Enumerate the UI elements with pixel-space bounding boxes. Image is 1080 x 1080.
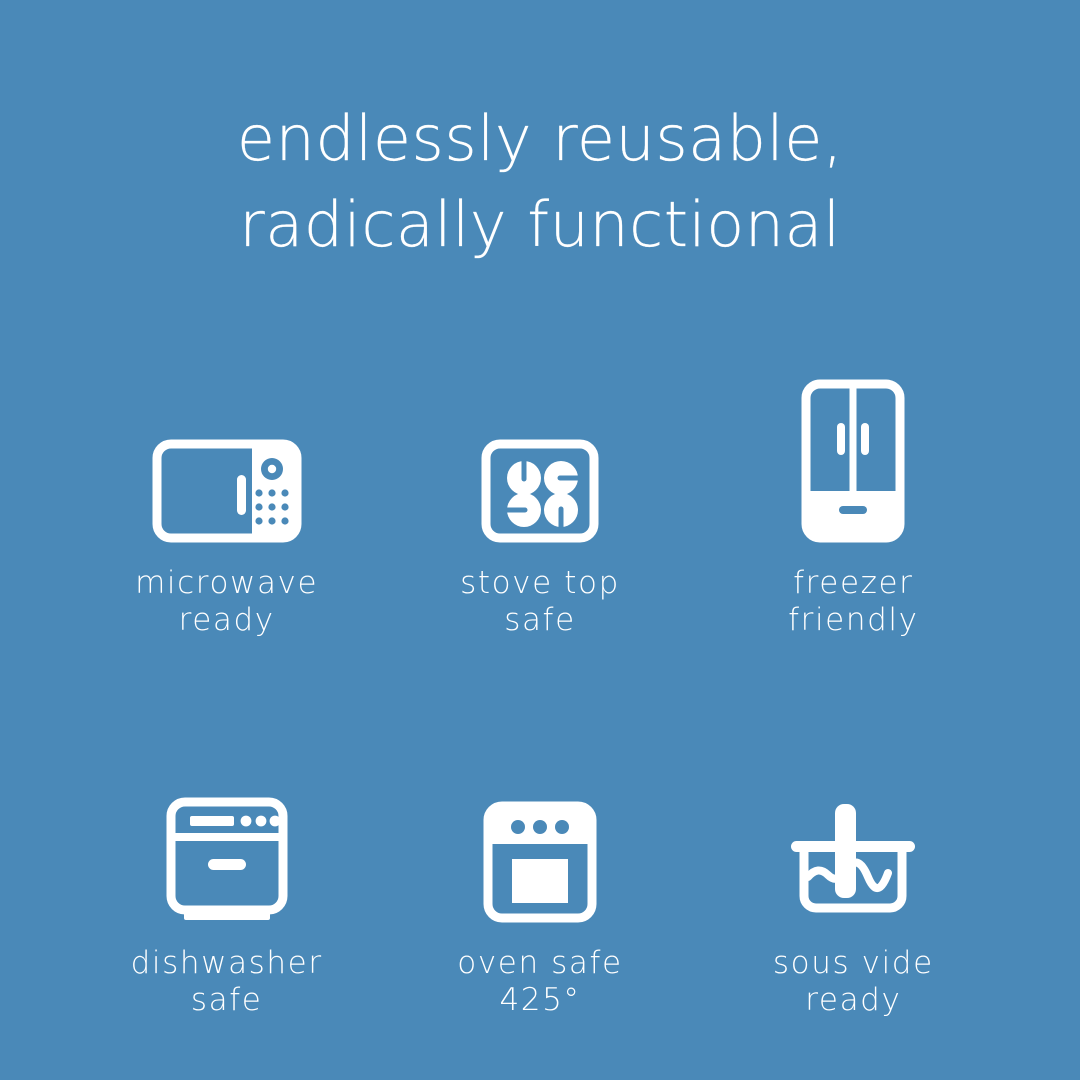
microwave-label-line-1: microwave [135,565,318,601]
poster-canvas: endlessly reusable, radically functional [0,0,1080,1080]
dishwasher-icon [166,797,288,923]
sous-vide-label-line-2: ready [773,982,934,1019]
page-title: endlessly reusable, radically functional [0,96,1080,267]
oven-icon [483,801,597,923]
freezer-icon-box [801,373,905,543]
dishwasher-label-line-2: safe [131,982,323,1019]
feature-sous-vide: sous vide ready [697,753,1010,1049]
headline-line-2: radically functional [0,182,1080,268]
headline-line-1: endlessly reusable, [0,96,1080,182]
feature-microwave: microwave ready [70,373,383,669]
feature-label-dishwasher: dishwasher safe [131,945,323,1019]
feature-label-microwave: microwave ready [135,565,318,639]
oven-label-line-2: 425° [457,982,622,1019]
feature-label-sous-vide: sous vide ready [773,945,934,1019]
dishwasher-label-line-1: dishwasher [131,945,323,981]
feature-label-oven: oven safe 425° [457,945,622,1019]
feature-label-freezer: freezer friendly [788,565,918,639]
sous-vide-label-line-1: sous vide [773,945,934,981]
freezer-label-line-2: friendly [788,602,918,639]
stove-top-label-line-1: stove top [460,565,620,601]
microwave-label-line-2: ready [135,602,318,639]
freezer-icon [801,379,905,543]
stove-top-label-line-2: safe [460,602,620,639]
feature-dishwasher: dishwasher safe [70,753,383,1049]
feature-oven: oven safe 425° [383,753,696,1049]
stove-top-icon-box [481,373,599,543]
stove-top-icon [481,439,599,543]
feature-stove-top: stove top safe [383,373,696,669]
oven-label-line-1: oven safe [457,945,622,981]
microwave-icon [152,439,302,543]
dishwasher-icon-box [166,753,288,923]
feature-grid: microwave ready [70,373,1010,1049]
freezer-label-line-1: freezer [793,565,913,601]
microwave-icon-box [152,373,302,543]
sous-vide-icon [786,793,920,923]
feature-freezer: freezer friendly [697,373,1010,669]
oven-icon-box [483,753,597,923]
sous-vide-icon-box [786,753,920,923]
feature-label-stove-top: stove top safe [460,565,620,639]
